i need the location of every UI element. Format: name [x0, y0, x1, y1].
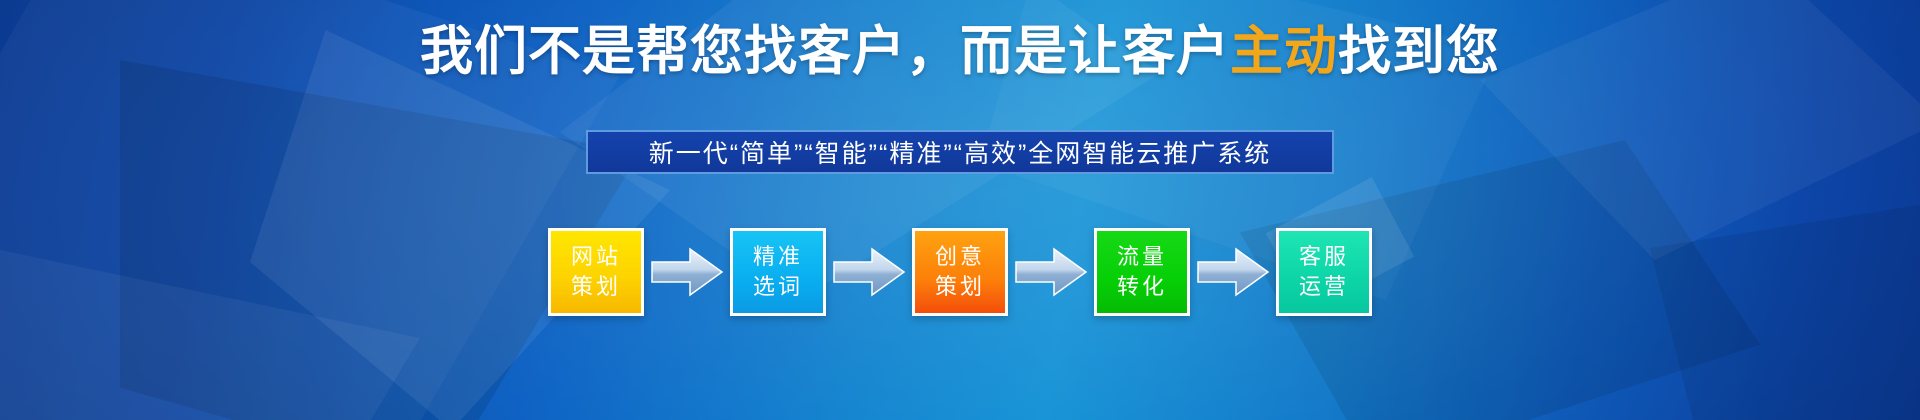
flow-step-line-2: 转化	[1117, 272, 1167, 302]
background-facet-3	[250, 30, 670, 420]
flow-arrow-icon-4	[1196, 246, 1270, 298]
flow-step-line-2: 策划	[935, 272, 985, 302]
promo-banner: 我们不是帮您找客户，而是让客户主动找到您 新一代“简单”“智能”“精准”“高效”…	[0, 0, 1920, 420]
flow-arrow-icon-1	[650, 246, 724, 298]
flow-step-creative-planning[interactable]: 创意 策划	[912, 228, 1008, 316]
subtitle-bar: 新一代“简单”“智能”“精准”“高效”全网智能云推广系统	[586, 130, 1334, 174]
flow-step-website-planning[interactable]: 网站 策划	[548, 228, 644, 316]
flow-step-line-2: 策划	[571, 272, 621, 302]
flow-step-line-1: 网站	[571, 242, 621, 272]
flow-step-line-2: 选词	[753, 272, 803, 302]
subtitle-text: 新一代“简单”“智能”“精准”“高效”全网智能云推广系统	[649, 134, 1272, 170]
flow-step-line-1: 流量	[1117, 242, 1167, 272]
flow-step-line-1: 客服	[1299, 242, 1349, 272]
flow-step-line-1: 精准	[753, 242, 803, 272]
flow-step-customer-service-operation[interactable]: 客服 运营	[1276, 228, 1372, 316]
process-flow: 网站 策划 精准 选词	[548, 228, 1372, 316]
headline-part-2: 找到您	[1338, 22, 1500, 81]
background-facet-10	[1650, 200, 1920, 420]
background-facet-8	[0, 250, 420, 420]
headline-part-1: 我们不是帮您找客户，而是让客户	[420, 22, 1230, 81]
flow-step-line-1: 创意	[935, 242, 985, 272]
flow-arrow-icon-3	[1014, 246, 1088, 298]
flow-step-traffic-conversion[interactable]: 流量 转化	[1094, 228, 1190, 316]
flow-step-line-2: 运营	[1299, 272, 1349, 302]
headline: 我们不是帮您找客户，而是让客户主动找到您	[0, 22, 1920, 81]
flow-step-keyword-selection[interactable]: 精准 选词	[730, 228, 826, 316]
flow-arrow-icon-2	[832, 246, 906, 298]
headline-highlight: 主动	[1230, 22, 1338, 81]
